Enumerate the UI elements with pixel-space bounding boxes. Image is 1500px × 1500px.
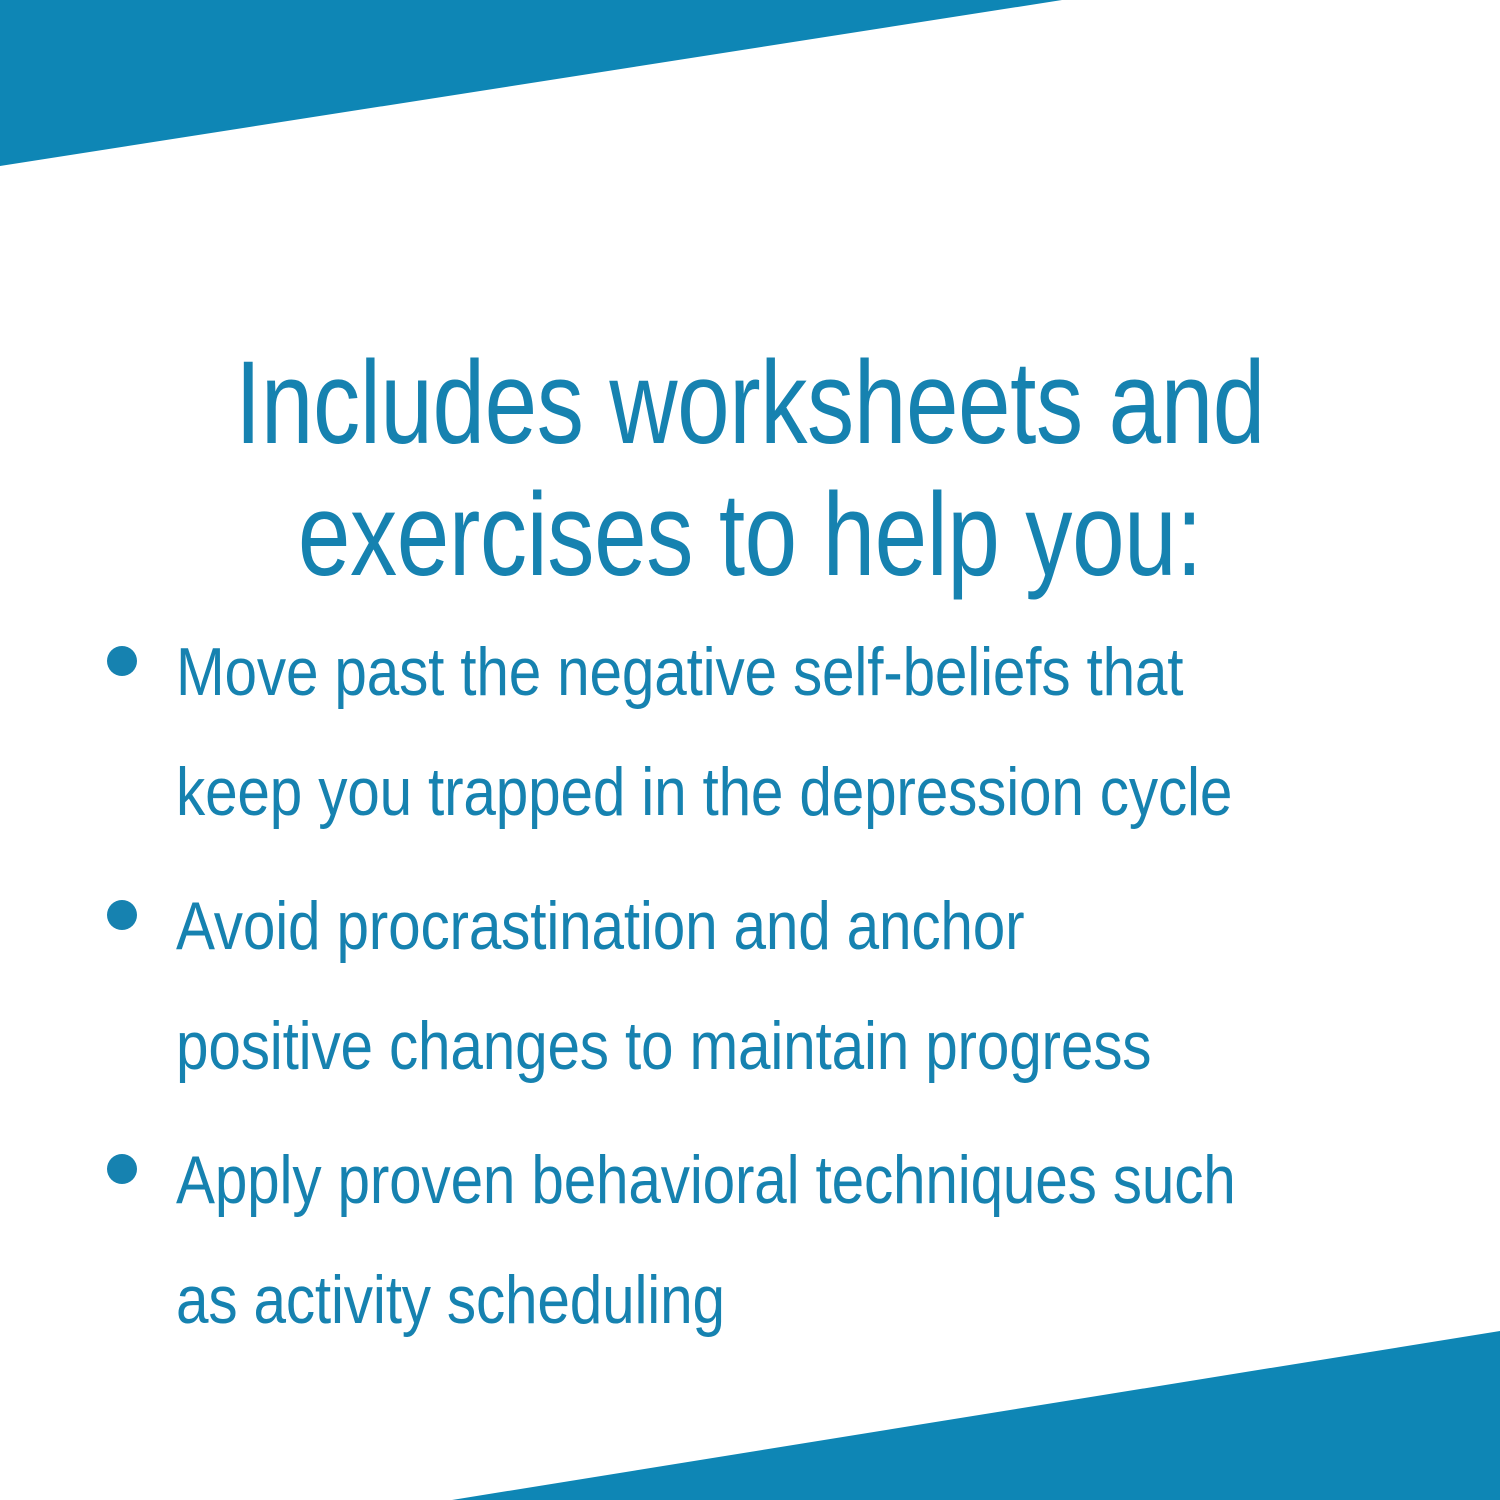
page-title-line-1: Includes worksheets and	[150, 337, 1350, 469]
top-banner-wedge-icon	[0, 0, 1062, 166]
list-item: Avoid procrastination and anchor positiv…	[98, 866, 1428, 1106]
bullet-dot-icon	[107, 900, 137, 930]
list-item: Apply proven behavioral techniques such …	[98, 1120, 1428, 1360]
list-item-line-1: Apply proven behavioral techniques such	[176, 1120, 1253, 1240]
page-title-line-2: exercises to help you:	[150, 469, 1350, 601]
list-item: Move past the negative self-beliefs that…	[98, 612, 1428, 852]
list-item-text: Apply proven behavioral techniques such …	[176, 1120, 1253, 1360]
list-item-text: Avoid procrastination and anchor positiv…	[176, 866, 1253, 1106]
list-item-text: Move past the negative self-beliefs that…	[176, 612, 1253, 852]
list-item-line-2: as activity scheduling	[176, 1240, 1253, 1360]
benefits-list: Move past the negative self-beliefs that…	[98, 612, 1428, 1374]
bullet-dot-icon	[107, 646, 137, 676]
list-item-line-1: Avoid procrastination and anchor	[176, 866, 1253, 986]
list-item-line-2: keep you trapped in the depression cycle	[176, 732, 1253, 852]
list-item-line-2: positive changes to maintain progress	[176, 986, 1253, 1106]
bullet-dot-icon	[107, 1154, 137, 1184]
list-item-line-1: Move past the negative self-beliefs that	[176, 612, 1253, 732]
page-title: Includes worksheets and exercises to hel…	[150, 337, 1350, 601]
promo-graphic-page: Includes worksheets and exercises to hel…	[0, 0, 1500, 1500]
